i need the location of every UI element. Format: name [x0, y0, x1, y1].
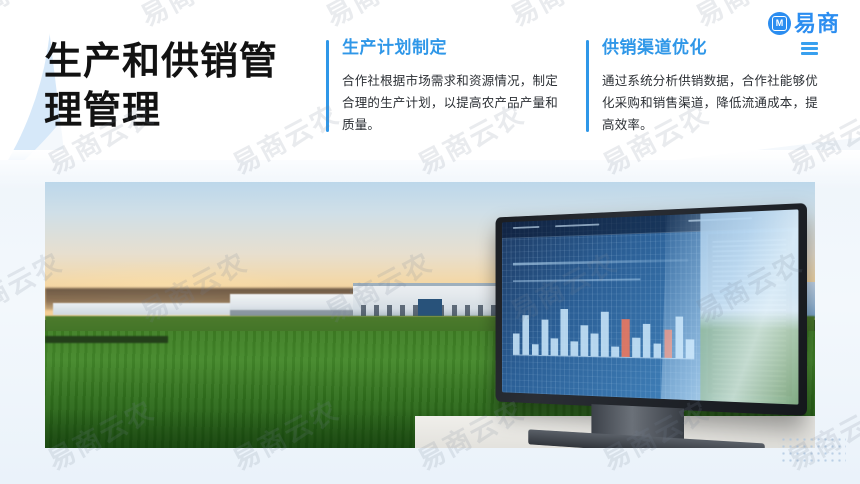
column-title: 生产计划制定 [342, 36, 560, 60]
brand-name: 易商 [794, 13, 840, 35]
brand-logo[interactable]: M 易商 [768, 12, 840, 35]
topbar-label [555, 224, 599, 228]
brand-mark-icon: M [768, 12, 791, 35]
field-path [45, 336, 168, 342]
column-accent-bar [586, 40, 589, 132]
page-title: 生产和供销管理管理 [44, 38, 304, 136]
chart-bar [601, 312, 609, 357]
brand-mark-letter: M [772, 16, 787, 31]
slide-canvas: 生产和供销管理管理 生产计划制定 合作社根据市场需求和资源情况，制定合理的生产计… [0, 0, 860, 484]
column-accent-bar [326, 40, 329, 132]
chart-bar [653, 344, 661, 358]
title-block: 生产和供销管理管理 [44, 38, 304, 136]
chart-bar [632, 338, 640, 358]
hero-photo [45, 182, 815, 448]
chart-bar [591, 334, 599, 357]
hamburger-line [801, 47, 818, 50]
chart-bar [541, 320, 548, 356]
monitor-screen [502, 210, 798, 405]
dot-pattern-decoration [780, 436, 846, 462]
chart-bar [551, 339, 558, 356]
chart-bar [561, 309, 568, 356]
chart-bar [581, 325, 589, 356]
warehouse-door [418, 299, 441, 316]
column-body: 通过系统分析供销数据，合作社能够优化采购和销售渠道，降低流通成本，提高效率。 [602, 70, 820, 136]
brand-area: M 易商 [768, 12, 840, 55]
chart-bar [513, 334, 520, 355]
hamburger-line [801, 52, 818, 55]
feature-columns: 生产计划制定 合作社根据市场需求和资源情况，制定合理的生产计划，以提高农产品产量… [326, 36, 820, 136]
screen-glare [660, 210, 798, 405]
feature-column-production-plan: 生产计划制定 合作社根据市场需求和资源情况，制定合理的生产计划，以提高农产品产量… [326, 36, 560, 136]
hamburger-icon[interactable] [768, 42, 818, 55]
chart-bar-highlight [622, 319, 630, 357]
chart-bar [571, 341, 578, 356]
topbar-label [513, 227, 539, 230]
desktop-monitor [496, 203, 808, 416]
chart-bar [522, 315, 529, 355]
column-body: 合作社根据市场需求和资源情况，制定合理的生产计划，以提高农产品产量和质量。 [342, 70, 560, 136]
chart-bar [643, 324, 651, 358]
hamburger-line [801, 42, 818, 45]
